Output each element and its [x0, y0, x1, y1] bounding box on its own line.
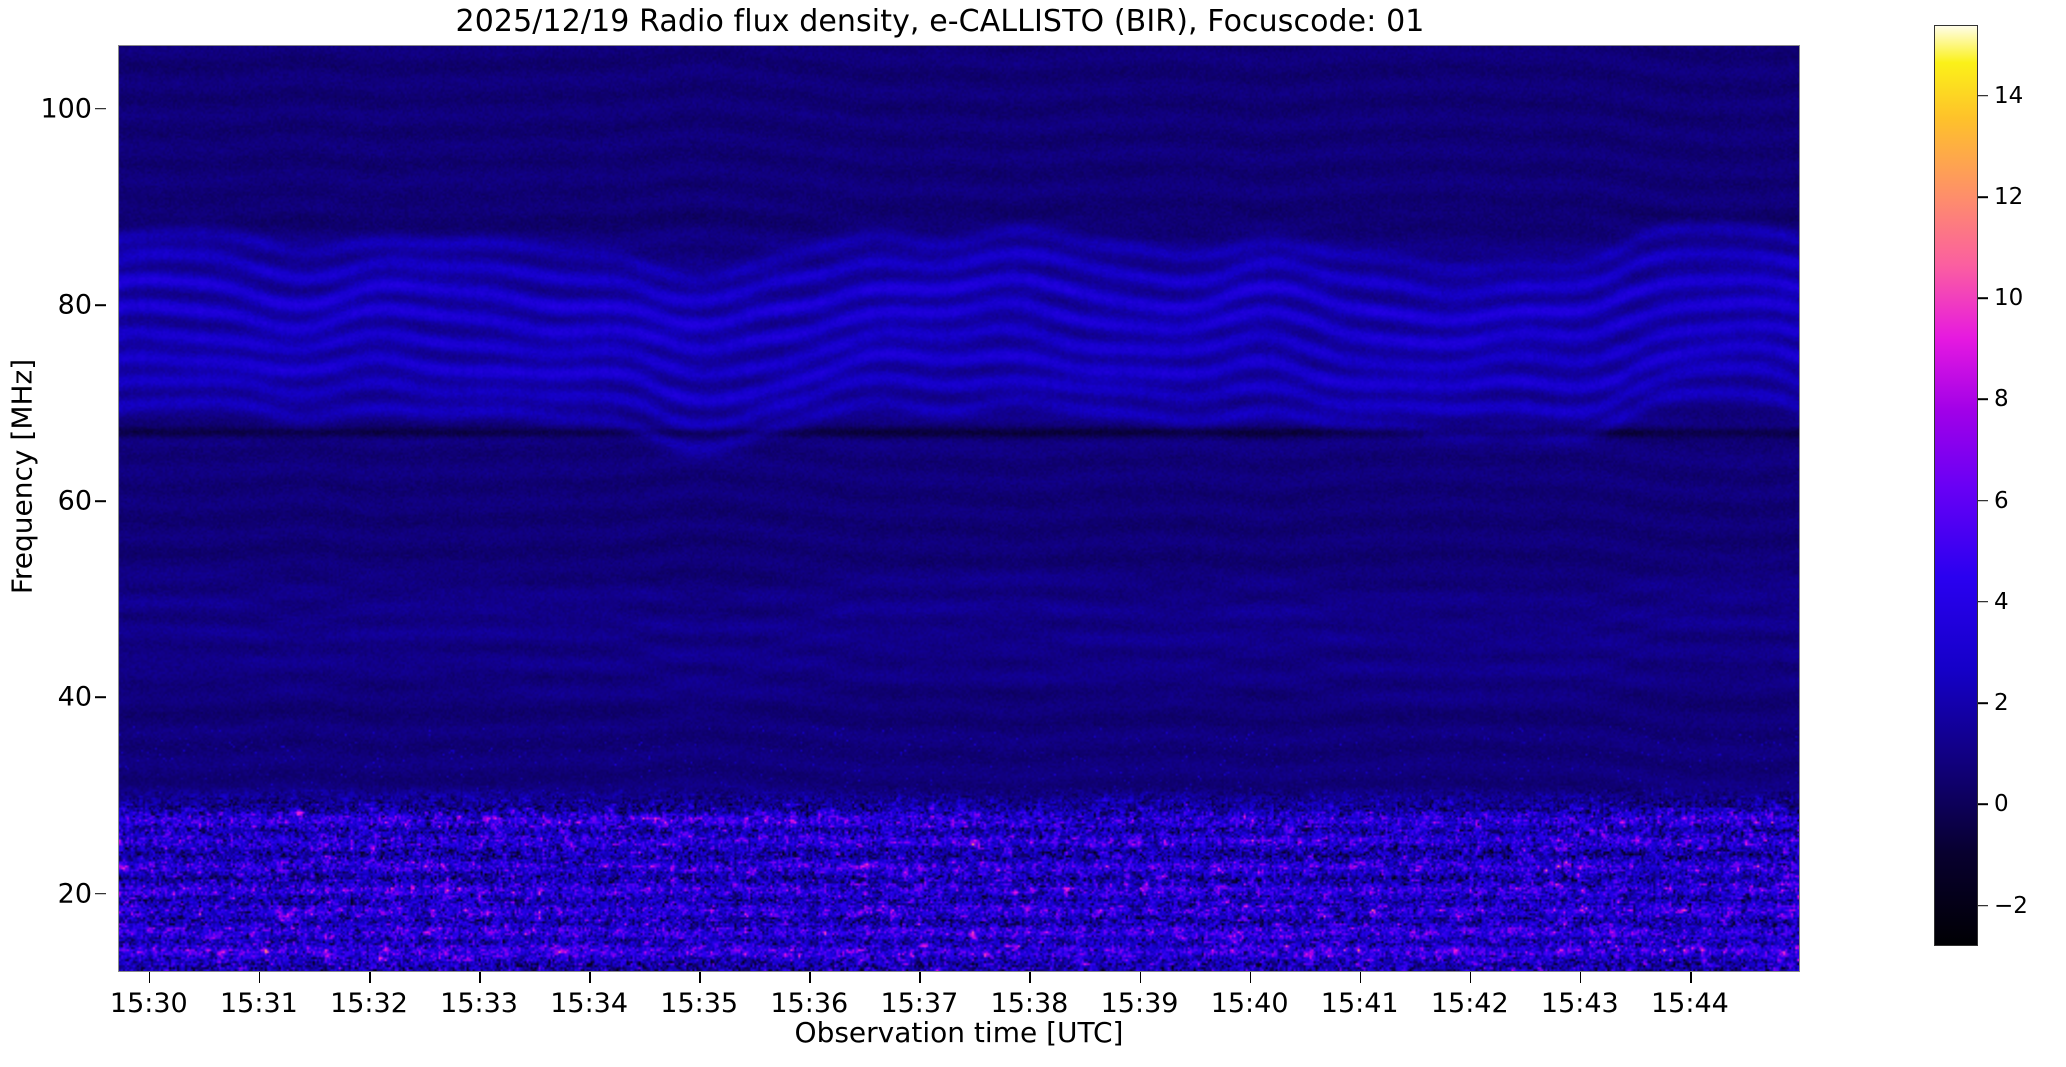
x-tick-label: 15:42 [1431, 988, 1509, 1019]
y-tick-mark [95, 304, 106, 306]
colorbar-tick-label: 14 [1994, 83, 2023, 109]
y-tick-label: 80 [58, 289, 92, 320]
colorbar-tick-label: 12 [1994, 184, 2023, 210]
spectrogram-figure: 2025/12/19 Radio flux density, e-CALLIST… [0, 0, 2066, 1067]
colorbar-tick-mark [1978, 95, 1988, 97]
y-tick-mark [95, 697, 106, 699]
colorbar-tick-label: 6 [1994, 488, 2009, 514]
y-tick-label: 60 [58, 486, 92, 517]
colorbar-tick-mark [1978, 905, 1988, 907]
x-tick-mark [699, 972, 701, 983]
x-tick-mark [1140, 972, 1142, 983]
y-tick-mark [95, 893, 106, 895]
x-tick-label: 15:34 [550, 988, 628, 1019]
x-tick-mark [1470, 972, 1472, 983]
colorbar-tick-mark [1978, 399, 1988, 401]
x-tick-label: 15:30 [110, 988, 188, 1019]
colorbar [1934, 25, 1978, 946]
y-tick-label: 20 [58, 878, 92, 909]
x-tick-mark [809, 972, 811, 983]
spectrogram-image [119, 46, 1799, 971]
y-axis: Frequency [MHz] 10080604020 [0, 0, 118, 1067]
x-tick-label: 15:43 [1541, 988, 1619, 1019]
x-tick-mark [919, 972, 921, 983]
y-tick-label: 100 [40, 93, 92, 124]
x-tick-label: 15:32 [330, 988, 408, 1019]
spectrogram-plot-area [118, 45, 1800, 972]
x-tick-label: 15:37 [880, 988, 958, 1019]
x-tick-mark [369, 972, 371, 983]
colorbar-tick-label: 10 [1994, 285, 2023, 311]
colorbar-tick-label: 8 [1994, 386, 2009, 412]
x-tick-label: 15:39 [1101, 988, 1179, 1019]
colorbar-tick-mark [1978, 702, 1988, 704]
x-tick-mark [1250, 972, 1252, 983]
x-tick-mark [1029, 972, 1031, 983]
x-tick-label: 15:33 [440, 988, 518, 1019]
colorbar-tick-mark [1978, 601, 1988, 603]
x-tick-label: 15:44 [1651, 988, 1729, 1019]
x-tick-label: 15:36 [770, 988, 848, 1019]
y-tick-mark [95, 108, 106, 110]
x-tick-mark [149, 972, 151, 983]
colorbar-tick-mark [1978, 297, 1988, 299]
x-tick-mark [259, 972, 261, 983]
y-tick-label: 40 [58, 682, 92, 713]
x-tick-label: 15:41 [1321, 988, 1399, 1019]
figure-title: 2025/12/19 Radio flux density, e-CALLIST… [0, 4, 1880, 39]
colorbar-tick-mark [1978, 196, 1988, 198]
colorbar-gradient [1935, 26, 1977, 945]
x-tick-mark [1580, 972, 1582, 983]
x-tick-mark [589, 972, 591, 983]
colorbar-tick-label: −2 [1994, 893, 2028, 919]
colorbar-tick-label: 2 [1994, 690, 2009, 716]
x-tick-label: 15:38 [991, 988, 1069, 1019]
colorbar-tick-mark [1978, 500, 1988, 502]
x-tick-label: 15:31 [220, 988, 298, 1019]
colorbar-tick-label: 0 [1994, 791, 2009, 817]
x-axis-label: Observation time [UTC] [118, 1016, 1800, 1049]
y-axis-label: Frequency [MHz] [6, 267, 39, 687]
y-tick-mark [95, 500, 106, 502]
x-tick-mark [479, 972, 481, 983]
x-tick-mark [1360, 972, 1362, 983]
x-tick-label: 15:40 [1211, 988, 1289, 1019]
colorbar-axis: 14121086420−2 [1978, 0, 2066, 1067]
colorbar-tick-mark [1978, 804, 1988, 806]
x-tick-label: 15:35 [660, 988, 738, 1019]
colorbar-tick-label: 4 [1994, 589, 2009, 615]
x-tick-mark [1690, 972, 1692, 983]
